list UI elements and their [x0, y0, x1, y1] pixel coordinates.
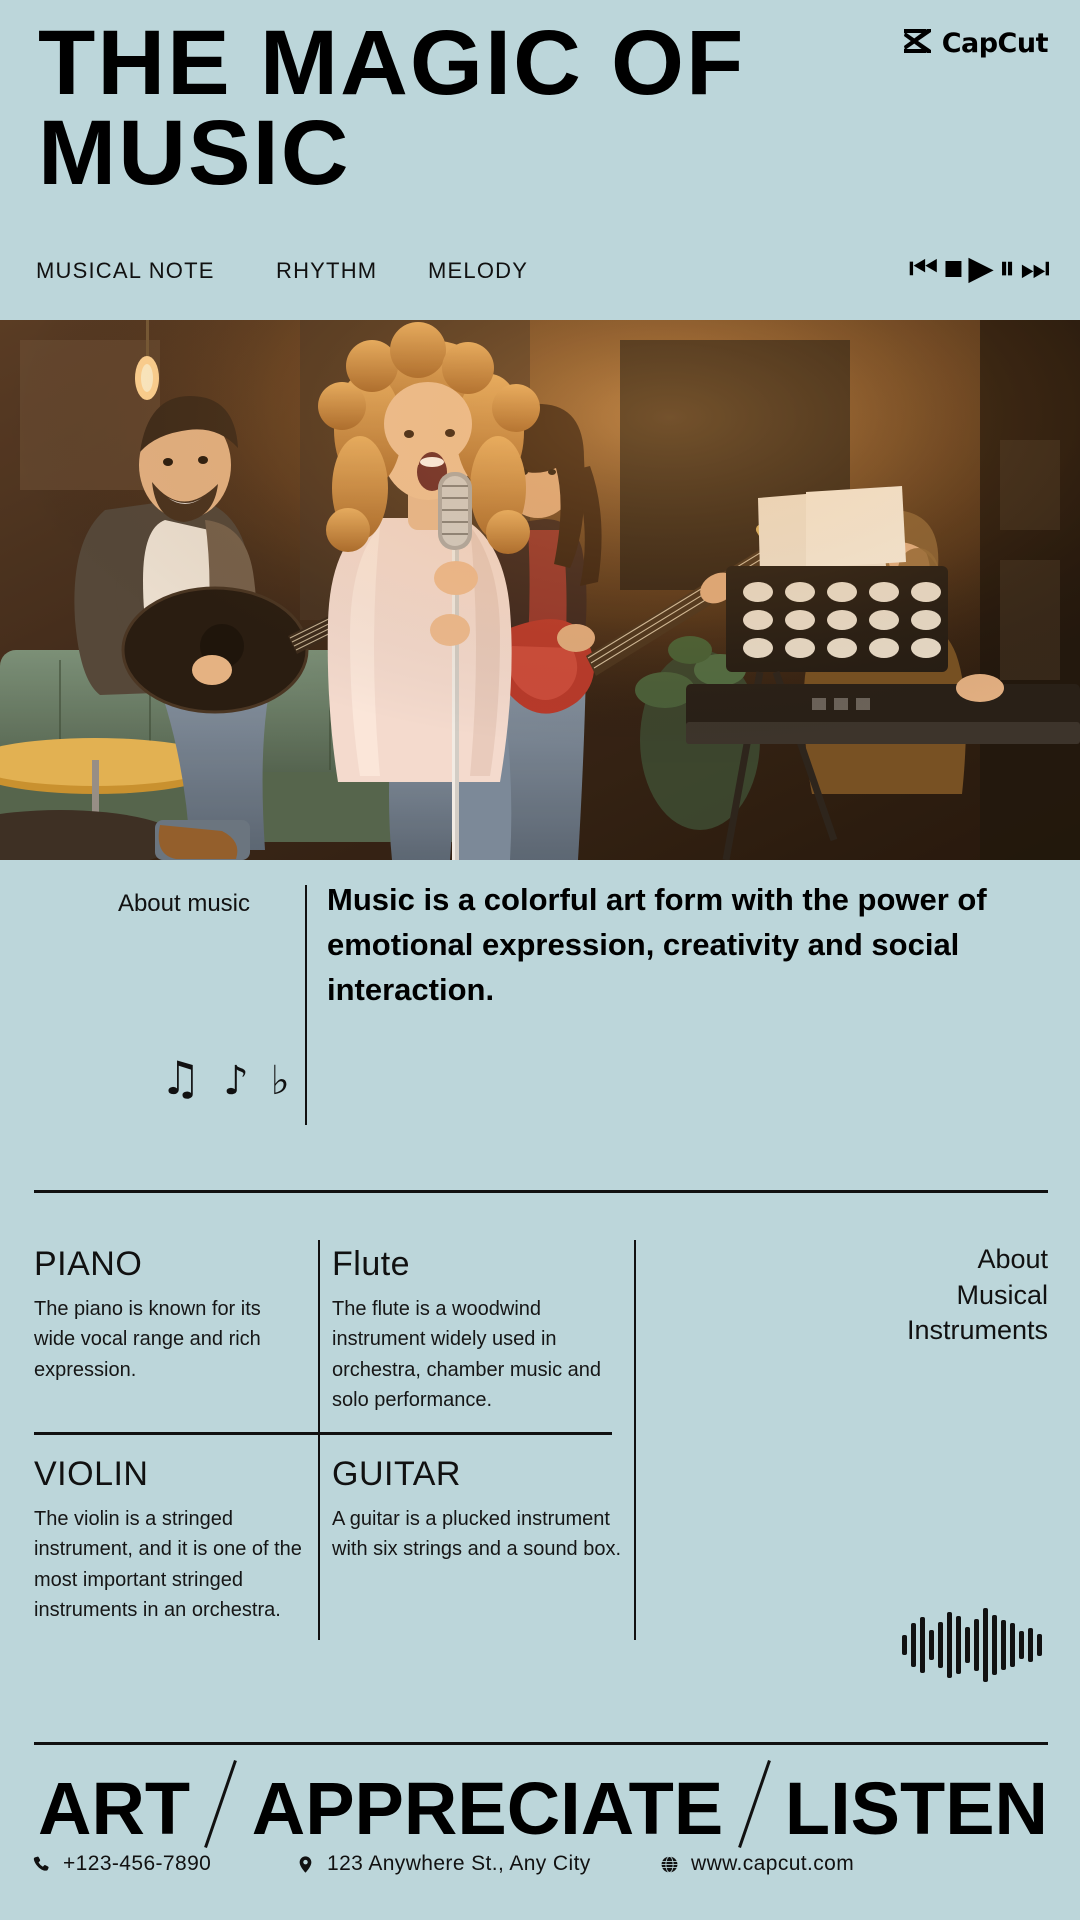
nav-item-musical-note[interactable]: MUSICAL NOTE: [36, 258, 215, 284]
instrument-card-violin: VIOLIN The violin is a stringed instrume…: [34, 1455, 306, 1626]
contact-phone-text: +123-456-7890: [63, 1852, 211, 1876]
stop-icon[interactable]: ■: [943, 251, 963, 284]
audio-waveform-icon: [902, 1605, 1042, 1685]
music-note-glyphs: ♫ ♪ ♭: [160, 1055, 290, 1101]
column-divider-outer: [634, 1240, 636, 1640]
about-instruments-line-2: Musical: [768, 1278, 1048, 1314]
contact-website[interactable]: www.capcut.com: [660, 1852, 854, 1876]
instrument-title: Flute: [332, 1245, 622, 1284]
eighth-note-icon: ♪: [223, 1061, 249, 1101]
contact-phone[interactable]: +123-456-7890: [32, 1852, 211, 1876]
about-instruments-line-1: About: [768, 1242, 1048, 1278]
waveform-bar: [1028, 1628, 1033, 1662]
banner-separator-icon: [738, 1760, 771, 1848]
footer-contact-bar: +123-456-7890 123 Anywhere St., Any City: [0, 1852, 1080, 1912]
contact-website-text: www.capcut.com: [691, 1852, 854, 1876]
header: THE MAGIC OF MUSIC CapCut MUSICAL NOTE R…: [0, 0, 1080, 320]
waveform-bar: [956, 1616, 961, 1674]
about-vertical-divider: [305, 885, 307, 1125]
instrument-title: GUITAR: [332, 1455, 622, 1494]
media-controls: ⏮ ■ ▶ ⏸ ⏭: [909, 251, 1050, 284]
banner-words: ART APPRECIATE LISTEN: [38, 1742, 1048, 1851]
page-title: THE MAGIC OF MUSIC: [38, 18, 772, 198]
waveform-bar: [902, 1635, 907, 1655]
waveform-bar: [1037, 1634, 1042, 1656]
waveform-bar: [911, 1623, 916, 1667]
nav-item-rhythm[interactable]: RHYTHM: [276, 258, 377, 284]
nav-item-melody[interactable]: MELODY: [428, 258, 528, 284]
page-title-line-2: MUSIC: [38, 108, 772, 198]
play-icon[interactable]: ▶: [968, 251, 993, 284]
location-pin-icon: [296, 1855, 315, 1874]
next-track-icon[interactable]: ⏭: [1020, 251, 1050, 284]
waveform-bar: [965, 1627, 970, 1663]
waveform-bar: [1019, 1631, 1024, 1659]
waveform-bar: [974, 1619, 979, 1671]
about-instruments-line-3: Instruments: [768, 1313, 1048, 1349]
banner-word-art: ART: [38, 1766, 190, 1851]
banner-separator-icon: [205, 1760, 238, 1848]
banner-word-appreciate: APPRECIATE: [252, 1766, 723, 1851]
instrument-description: A guitar is a plucked instrument with si…: [332, 1504, 622, 1565]
banner-word-listen: LISTEN: [785, 1766, 1048, 1851]
instrument-card-flute: Flute The flute is a woodwind instrument…: [332, 1245, 622, 1416]
waveform-bar: [1010, 1623, 1015, 1667]
capcut-wordmark: CapCut: [942, 28, 1048, 59]
instrument-card-guitar: GUITAR A guitar is a plucked instrument …: [332, 1455, 622, 1565]
about-music-body: Music is a colorful art form with the po…: [327, 878, 1047, 1013]
previous-track-icon[interactable]: ⏮: [909, 251, 939, 284]
instrument-title: VIOLIN: [34, 1455, 306, 1494]
waveform-bar: [947, 1612, 952, 1678]
capcut-hourglass-icon: [903, 28, 933, 59]
nav-bar: MUSICAL NOTE RHYTHM MELODY ⏮ ■ ▶ ⏸ ⏭: [0, 258, 1080, 306]
waveform-bar: [920, 1617, 925, 1673]
waveform-bar: [1001, 1620, 1006, 1670]
waveform-bar: [992, 1615, 997, 1675]
flat-sign-icon: ♭: [271, 1061, 290, 1101]
section-divider-top: [34, 1190, 1048, 1193]
column-divider-inner: [318, 1240, 320, 1640]
section-divider-middle: [34, 1432, 612, 1435]
pause-icon[interactable]: ⏸: [999, 251, 1016, 284]
page-title-line-1: THE MAGIC OF: [38, 18, 772, 108]
contact-address-text: 123 Anywhere St., Any City: [327, 1852, 591, 1876]
instrument-title: PIANO: [34, 1245, 304, 1284]
instrument-card-piano: PIANO The piano is known for its wide vo…: [34, 1245, 304, 1385]
waveform-bar: [938, 1622, 943, 1668]
phone-icon: [32, 1855, 51, 1874]
beamed-eighth-notes-icon: ♫: [160, 1055, 201, 1101]
bottom-banner: ART APPRECIATE LISTEN: [0, 1742, 1080, 1832]
waveform-bar: [983, 1608, 988, 1682]
contact-address[interactable]: 123 Anywhere St., Any City: [296, 1852, 591, 1876]
instrument-description: The piano is known for its wide vocal ra…: [34, 1294, 304, 1385]
instrument-description: The flute is a woodwind instrument widel…: [332, 1294, 622, 1416]
poster-canvas: THE MAGIC OF MUSIC CapCut MUSICAL NOTE R…: [0, 0, 1080, 1920]
capcut-logo[interactable]: CapCut: [903, 28, 1048, 59]
instrument-description: The violin is a stringed instrument, and…: [34, 1504, 306, 1626]
globe-icon: [660, 1855, 679, 1874]
about-music-label: About music: [100, 890, 250, 918]
waveform-bar: [929, 1630, 934, 1660]
band-photo: [0, 320, 1080, 860]
about-musical-instruments-label: About Musical Instruments: [768, 1242, 1048, 1349]
about-music-section: About music Music is a colorful art form…: [0, 860, 1080, 1190]
